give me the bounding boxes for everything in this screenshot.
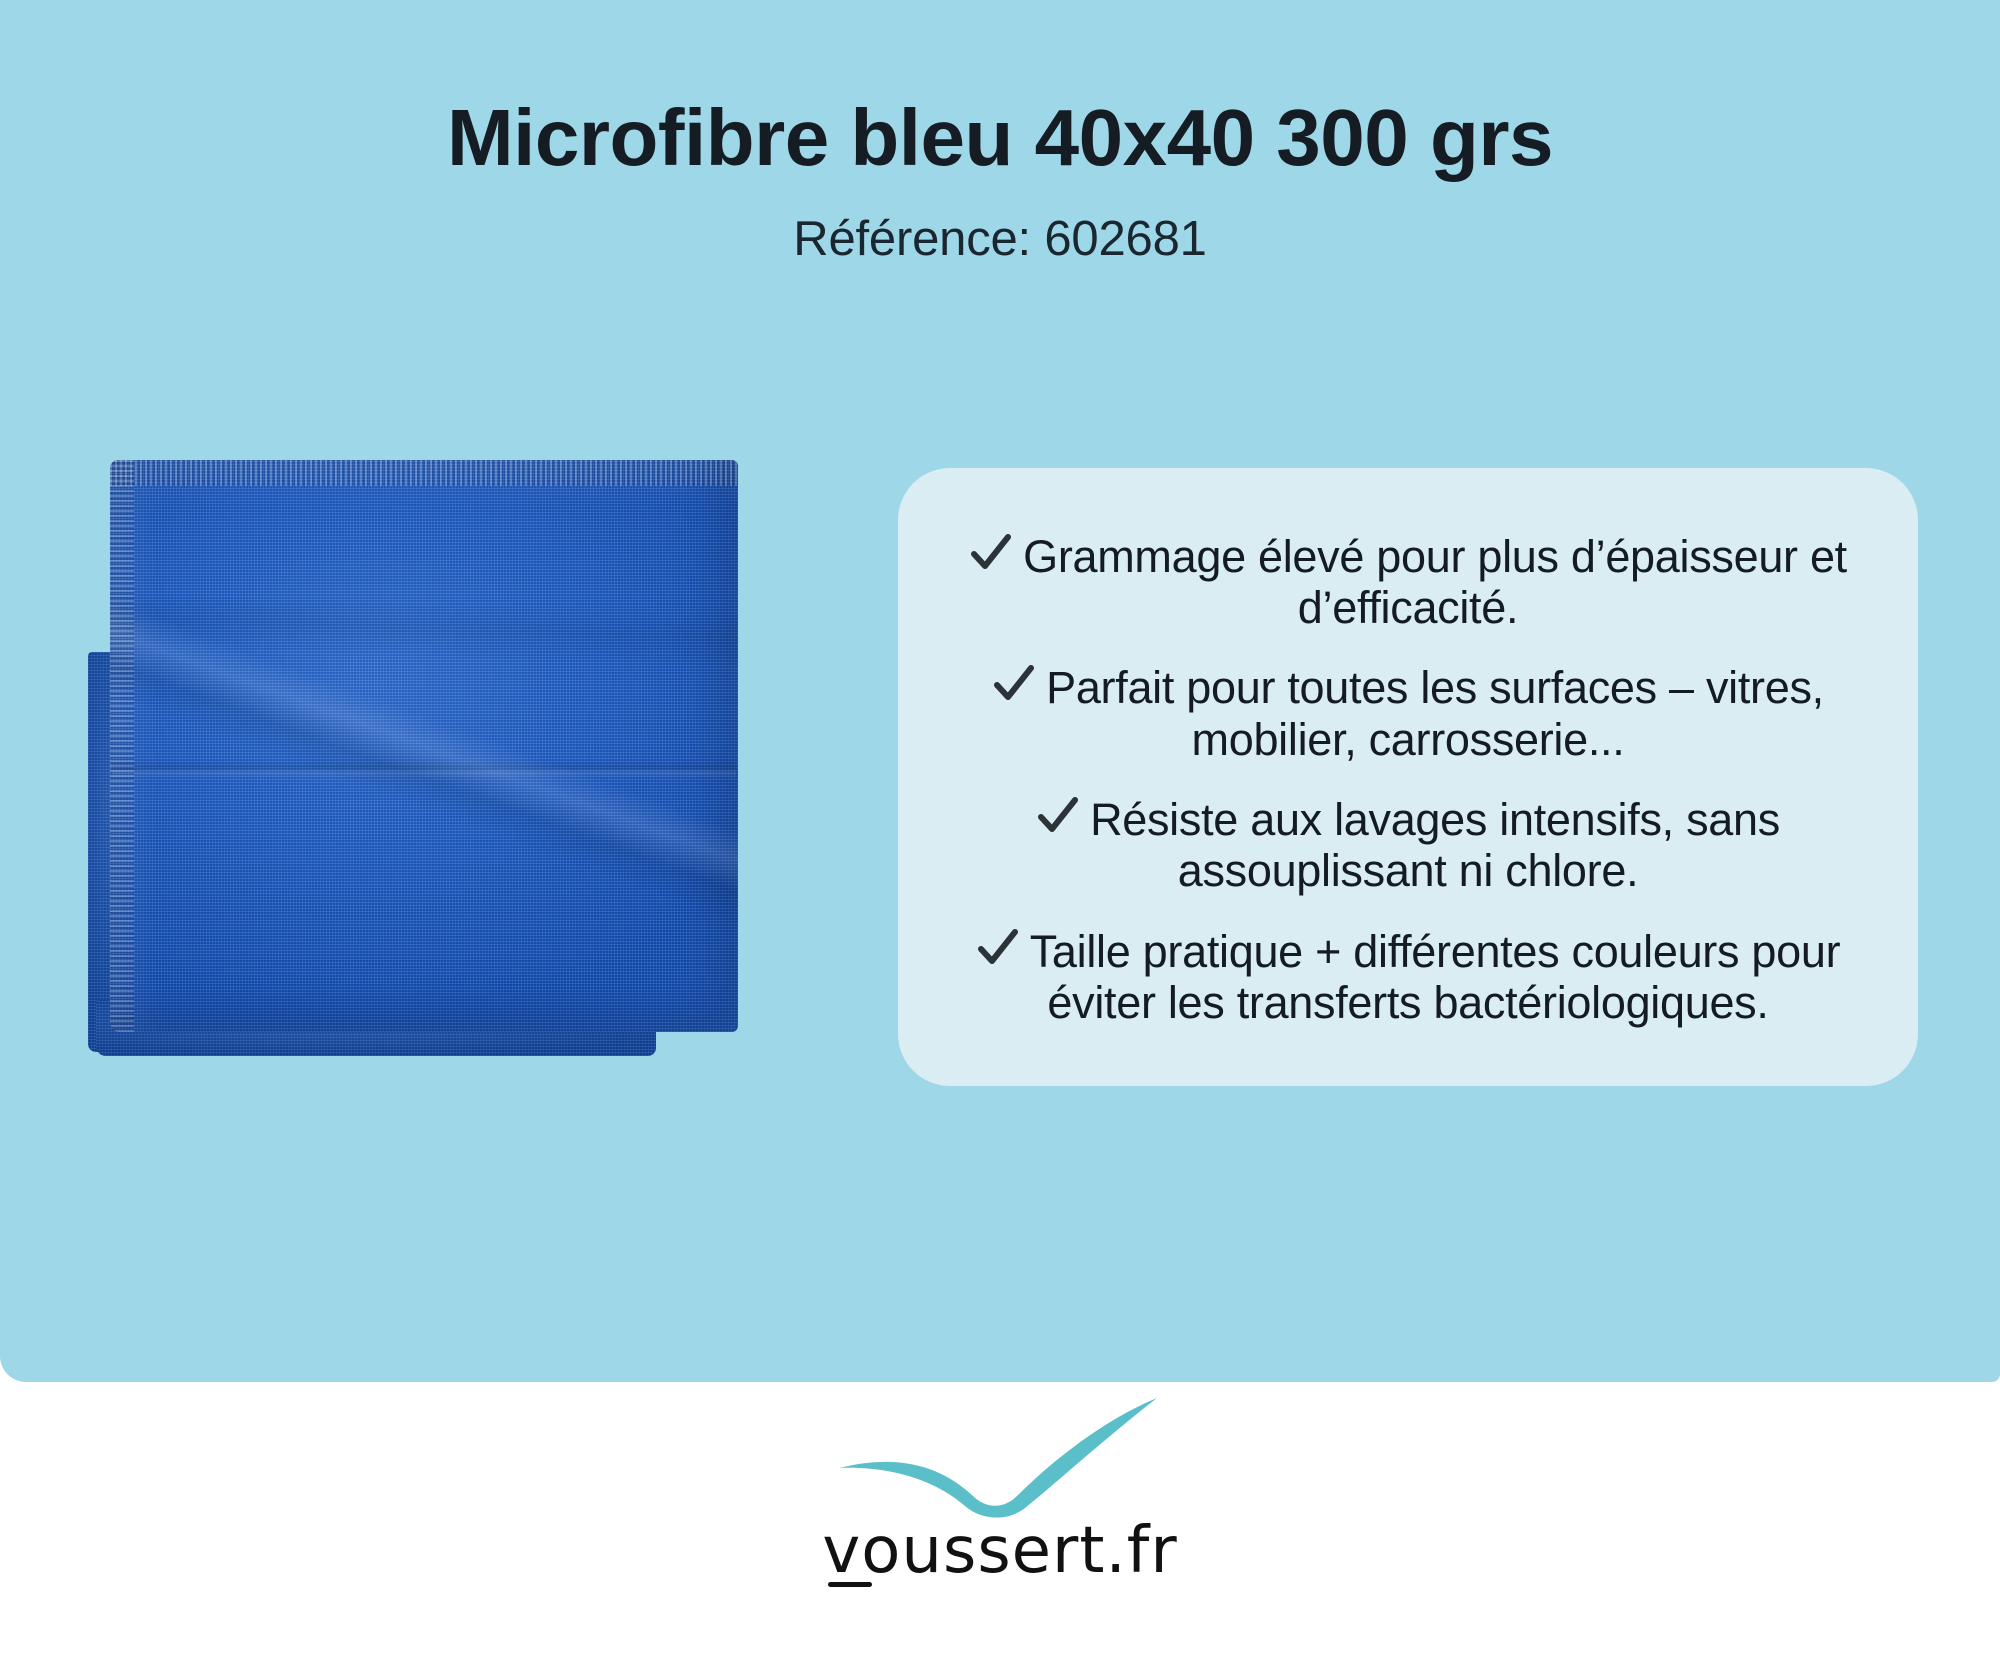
- check-icon: [969, 530, 1013, 574]
- check-icon: [992, 661, 1036, 705]
- feature-text: Résiste aux lavages intensifs, sans asso…: [1090, 794, 1780, 896]
- features-card: Grammage élevé pour plus d’épaisseur et …: [898, 468, 1918, 1086]
- footer: voussert.fr: [0, 1382, 2000, 1677]
- product-reference: Référence: 602681: [0, 179, 2000, 267]
- cloth-main-surface: [110, 460, 738, 1032]
- product-photo: [88, 460, 738, 1070]
- feature-item: Parfait pour toutes les surfaces – vitre…: [942, 661, 1874, 765]
- header: Microfibre bleu 40x40 300 grs Référence:…: [0, 0, 2000, 267]
- feature-item: Taille pratique + différentes couleurs p…: [942, 925, 1874, 1029]
- check-icon: [976, 925, 1020, 969]
- check-icon: [1036, 793, 1080, 837]
- feature-text: Parfait pour toutes les surfaces – vitre…: [1046, 662, 1824, 764]
- brand-wordmark-text: voussert.fr: [822, 1514, 1177, 1588]
- feature-text: Taille pratique + différentes couleurs p…: [1030, 926, 1841, 1028]
- feature-item: Grammage élevé pour plus d’épaisseur et …: [942, 530, 1874, 634]
- logo-underbar: [828, 1582, 872, 1587]
- feature-item: Résiste aux lavages intensifs, sans asso…: [942, 793, 1874, 897]
- swoosh-check-icon: [835, 1392, 1165, 1525]
- product-infographic: Microfibre bleu 40x40 300 grs Référence:…: [0, 0, 2000, 1677]
- page-title: Microfibre bleu 40x40 300 grs: [0, 0, 2000, 179]
- brand-wordmark: voussert.fr: [822, 1519, 1177, 1583]
- feature-text: Grammage élevé pour plus d’épaisseur et …: [1023, 531, 1847, 633]
- brand-logo[interactable]: voussert.fr: [790, 1392, 1210, 1583]
